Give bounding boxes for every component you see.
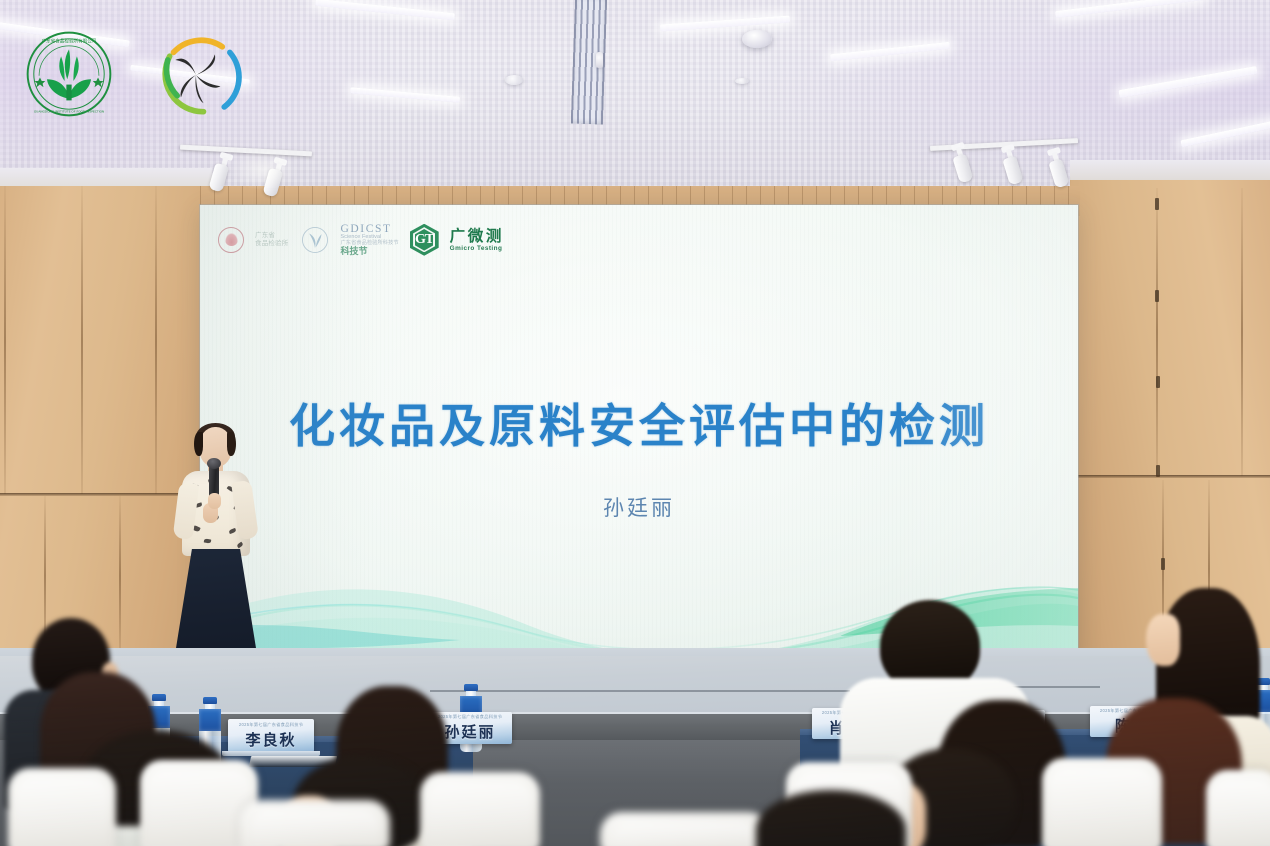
room-logo-institute-emblem: 广东省食品检验所有限公司 GUANGDONG INSTITUTE OF FOOD… — [25, 30, 113, 118]
screen-surface: 广东省食品检验所 GDICST Science Festival 广东省食品检验… — [200, 205, 1078, 660]
partition-hinge — [1156, 376, 1160, 388]
partition-hinge — [1161, 558, 1165, 570]
wall-panel-seam — [1156, 188, 1158, 476]
presenter-hair-right — [227, 432, 236, 456]
audience-chair — [8, 768, 116, 846]
audience-person — [756, 790, 906, 846]
presenter-hand-upper — [208, 493, 221, 509]
person-face — [1146, 614, 1180, 666]
audience-chair — [240, 800, 390, 846]
audience-chair — [600, 812, 770, 846]
audience-chair — [1206, 770, 1270, 846]
bottle-cap — [203, 697, 217, 704]
stage-panel-seam — [430, 690, 850, 692]
audience-chair — [1042, 758, 1162, 846]
svg-text:GUANGDONG INSTITUTE OF FOOD IN: GUANGDONG INSTITUTE OF FOOD INSPECTION — [34, 110, 104, 114]
wall-panel-seam — [155, 186, 157, 494]
presenter-hair-left — [194, 432, 203, 456]
wall-panel-seam — [4, 186, 6, 494]
smoke-detector — [505, 75, 523, 85]
conference-photo-scene: 广东省食品检验所有限公司 GUANGDONG INSTITUTE OF FOOD… — [0, 0, 1270, 846]
bottle-cap — [464, 684, 478, 691]
wall-panel-seam — [81, 186, 83, 494]
smoke-detector — [735, 78, 749, 84]
wall-panel-seam — [1241, 188, 1243, 476]
projection-screen: 广东省食品检验所 GDICST Science Festival 广东省食品检验… — [200, 205, 1078, 660]
microphone-head — [207, 458, 221, 469]
audience-chair — [420, 772, 540, 846]
wall-horizontal-joint — [1070, 475, 1270, 478]
screen-perspective-shading — [200, 205, 1078, 660]
partition-hinge — [1155, 290, 1159, 302]
person-head — [756, 790, 906, 846]
sprinkler-head — [596, 52, 603, 68]
bottle-label — [199, 709, 221, 731]
room-logo-tri-swirl — [146, 28, 246, 122]
nameplate-subtitle: 2025年第七届广东省食品科技节 — [239, 722, 303, 728]
ceiling-speaker — [742, 30, 772, 48]
partition-hinge — [1155, 198, 1159, 210]
